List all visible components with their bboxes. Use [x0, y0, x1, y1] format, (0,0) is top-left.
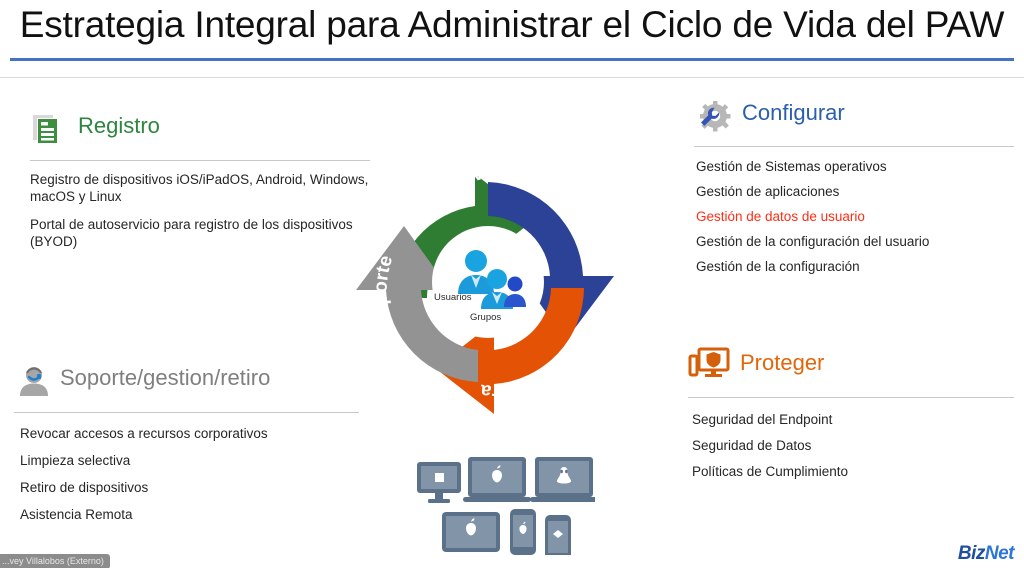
panel-registro: Registro Registro de dispositivos iOS/iP… [30, 112, 370, 261]
tablet-ipad-device [442, 512, 500, 552]
groups-label: Grupos [470, 312, 501, 323]
panel-soporte-body: Revocar accesos a recursos corporativos … [14, 413, 359, 523]
list-item: Retiro de dispositivos [20, 479, 359, 496]
panel-soporte-header: Soporte/gestion/retiro [14, 362, 359, 404]
slide-canvas: Estrategia Integral para Administrar el … [0, 0, 1024, 568]
slide-title-bar: Estrategia Integral para Administrar el … [0, 0, 1024, 62]
phone-android-device [545, 515, 571, 555]
phone-iphone-device [510, 509, 536, 555]
panel-configurar: Configurar Gestión de Sistemas operativo… [694, 98, 1014, 283]
logo-primary-text: Biz [958, 543, 985, 564]
laptop-linux-device [530, 457, 595, 502]
device-icon-row [415, 455, 595, 555]
panel-soporte: Soporte/gestion/retiro Revocar accesos a… [14, 362, 359, 533]
macbook-device [463, 457, 531, 502]
list-item: Gestión de la configuración [696, 258, 1014, 275]
list-item: Gestión de la configuración del usuario [696, 233, 1014, 250]
panel-configurar-body: Gestión de Sistemas operativos Gestión d… [694, 147, 1014, 275]
logo-secondary-text: Net [985, 543, 1014, 564]
panel-registro-header: Registro [30, 112, 370, 154]
biznet-logo: BizNet [958, 543, 1014, 565]
title-secondary-rule [0, 77, 1024, 78]
title-accent-rule [10, 58, 1014, 61]
headset-person-icon [14, 362, 54, 402]
panel-proteger-title: Proteger [740, 350, 824, 376]
desktop-windows-device [417, 462, 461, 503]
list-item: Seguridad de Datos [692, 437, 1014, 454]
list-item-highlighted: Gestión de datos de usuario [696, 208, 1014, 225]
lifecycle-cycle-diagram: Dispositivos Aplicaciones Configuración … [338, 148, 638, 418]
panel-proteger: Proteger Seguridad del Endpoint Segurida… [688, 345, 1014, 489]
page-title: Estrategia Integral para Administrar el … [0, 4, 1024, 46]
monitor-shield-icon [688, 345, 728, 385]
list-item: Portal de autoservicio para registro de … [30, 216, 370, 250]
list-item: Políticas de Cumplimiento [692, 463, 1014, 480]
panel-proteger-header: Proteger [688, 345, 1014, 387]
list-item: Seguridad del Endpoint [692, 411, 1014, 428]
list-item: Asistencia Remota [20, 506, 359, 523]
list-item: Gestión de aplicaciones [696, 183, 1014, 200]
panel-registro-title: Registro [78, 113, 160, 139]
participant-name-tag: ...vey Villalobos (Externo) [0, 554, 110, 568]
list-item: Gestión de Sistemas operativos [696, 158, 1014, 175]
panel-registro-body: Registro de dispositivos iOS/iPadOS, And… [30, 161, 370, 250]
list-item: Revocar accesos a recursos corporativos [20, 425, 359, 442]
panel-proteger-body: Seguridad del Endpoint Seguridad de Dato… [688, 398, 1014, 480]
panel-soporte-title: Soporte/gestion/retiro [60, 365, 270, 391]
users-label: Usuarios [434, 292, 472, 303]
panel-configurar-title: Configurar [742, 100, 845, 126]
list-item: Registro de dispositivos iOS/iPadOS, And… [30, 171, 370, 205]
list-item: Limpieza selectiva [20, 452, 359, 469]
panel-configurar-header: Configurar [694, 98, 1014, 140]
gear-wrench-icon [694, 98, 734, 138]
document-form-icon [30, 112, 70, 152]
